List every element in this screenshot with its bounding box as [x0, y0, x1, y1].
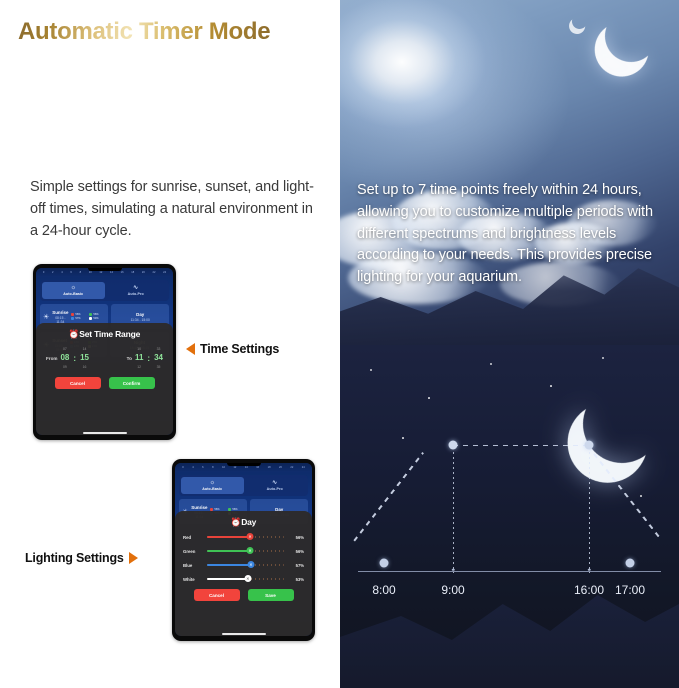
ruler-tick: 0 — [182, 466, 183, 469]
ruler-tick: 20 — [279, 466, 282, 469]
tab-auto-pro[interactable]: ∿ Auto-Pro — [244, 477, 307, 494]
axis-tick-16 — [588, 568, 591, 571]
from-group: From 07 08 09 : 14 15 — [46, 345, 89, 371]
ruler-tick: 2 — [52, 271, 53, 274]
ruler-tick: 24 — [163, 271, 166, 274]
axis-label: 8:00 — [372, 583, 395, 597]
clock-icon: ⏰ — [231, 517, 241, 527]
wheel-current: 11 — [135, 353, 143, 363]
cancel-button[interactable]: Cancel — [55, 377, 101, 389]
to-hour-column[interactable]: 10 11 12 — [135, 345, 143, 371]
notch — [227, 463, 261, 466]
wheel-prev: 10 — [137, 345, 141, 353]
channel-chip: 57% — [71, 317, 87, 320]
dialog-title: ⏰Set Time Range — [42, 329, 167, 340]
slider-fill — [207, 536, 250, 538]
mode-tabs: ☼ Auto-Basic ∿ Auto-Pro — [179, 475, 308, 496]
curve-node-16 — [585, 441, 594, 450]
to-minute-column[interactable]: 33 34 35 — [154, 345, 163, 371]
left-description: Simple settings for sunrise, sunset, and… — [30, 176, 315, 242]
channel-value: 53% — [93, 317, 98, 320]
axis-tick-9 — [452, 568, 455, 571]
curve-sunrise-segment — [353, 452, 423, 541]
to-group: To 10 11 12 : 33 34 — [127, 345, 163, 371]
ruler-tick: 20 — [142, 271, 145, 274]
page-title: Automatic Timer Mode — [18, 18, 270, 46]
wheel-current: 08 — [60, 353, 69, 363]
ruler-tick: 22 — [290, 466, 293, 469]
tab-label: Auto-Pro — [128, 292, 144, 296]
slider-value: 53% — [288, 577, 304, 582]
ruler-tick: 16 — [256, 466, 259, 469]
star — [490, 363, 492, 365]
right-panel: Set up to 7 time points freely within 24… — [340, 0, 679, 688]
slider-label: Red — [183, 535, 203, 540]
ruler-tick: 22 — [153, 271, 156, 274]
star — [602, 357, 604, 359]
ruler-tick: 8 — [80, 271, 81, 274]
right-description: Set up to 7 time points freely within 24… — [357, 180, 669, 289]
green-slider[interactable]: ✕ — [207, 547, 284, 555]
wave-icon: ∿ — [133, 285, 138, 292]
axis-point-17 — [626, 559, 635, 568]
slider-row-green: Green ✕ 56% — [181, 547, 306, 555]
vguide-9 — [453, 447, 454, 573]
from-hour-column[interactable]: 07 08 09 — [60, 345, 69, 371]
dialog-title: ⏰Day — [181, 517, 306, 528]
phone-screen-light: 0 4 6 8 10 12 14 16 18 20 22 24 ☼ Au — [175, 463, 312, 636]
sunrise-icon: ☀ — [43, 313, 49, 321]
slider-label: Green — [183, 549, 203, 554]
vguide-16 — [589, 447, 590, 573]
tab-auto-basic[interactable]: ☼ Auto-Basic — [181, 477, 244, 494]
ruler-tick: 12 — [233, 466, 236, 469]
clock-icon: ⏰ — [69, 329, 79, 339]
slider-label: White — [183, 577, 203, 582]
channel-chip: 56% — [89, 313, 105, 316]
slider-label: Blue — [183, 563, 203, 568]
ruler-tick: 14 — [110, 271, 113, 274]
moon-icon — [598, 3, 664, 69]
swatch-white — [89, 317, 92, 320]
arrow-right-icon — [129, 552, 138, 564]
colon: : — [147, 354, 150, 363]
slider-fill — [207, 550, 250, 552]
home-indicator — [83, 432, 127, 434]
wheel-prev: 33 — [157, 345, 161, 353]
callout-time-settings: Time Settings — [186, 342, 279, 356]
slider-fill — [207, 578, 248, 580]
curve-node-9 — [449, 441, 458, 450]
left-panel: Automatic Timer Mode Simple settings for… — [0, 0, 340, 688]
wheel-prev: 14 — [83, 345, 87, 353]
star — [428, 397, 430, 399]
axis-label: 16:00 — [574, 583, 604, 597]
dialog-title-text: Day — [241, 517, 256, 527]
wheel-current: 34 — [154, 353, 163, 363]
curve-daytime-segment — [453, 445, 589, 446]
mode-time: 11:34 - 15:00 — [114, 318, 166, 322]
tab-label: Auto-Pro — [267, 487, 283, 491]
channel-value: 56% — [93, 313, 98, 316]
mode-name: Day — [114, 312, 166, 317]
night-scene: Sunrise Daytime — [340, 345, 679, 688]
slider-value: 56% — [288, 535, 304, 540]
ruler-tick: 4 — [61, 271, 62, 274]
ruler-tick: 0 — [43, 271, 44, 274]
mode-name: Sunrise — [191, 505, 207, 510]
star — [402, 437, 404, 439]
timeline-axis — [358, 571, 661, 572]
callout-label: Time Settings — [200, 342, 279, 356]
phone-mockup-time-settings: 0 2 4 6 8 10 12 14 16 18 20 22 24 ☼ — [33, 264, 176, 440]
phone-screen-time: 0 2 4 6 8 10 12 14 16 18 20 22 24 ☼ — [36, 268, 173, 435]
from-wheel[interactable]: 07 08 09 : 14 15 16 — [60, 345, 88, 371]
axis-point-8 — [380, 559, 389, 568]
ruler-tick: 8 — [212, 466, 213, 469]
slider-knob[interactable]: ✕ — [247, 561, 254, 568]
axis-label: 9:00 — [441, 583, 464, 597]
ruler-tick: 10 — [89, 271, 92, 274]
swatch-blue — [71, 317, 74, 320]
channel-value: 57% — [75, 317, 80, 320]
notch — [88, 268, 122, 271]
axis-label: 17:00 — [615, 583, 645, 597]
from-minute-column[interactable]: 14 15 16 — [80, 345, 89, 371]
tab-label: Auto-Basic — [63, 292, 83, 296]
wheel-next: 09 — [63, 363, 67, 371]
star — [640, 495, 642, 497]
slider-row-blue: Blue ✕ 57% — [181, 561, 306, 569]
slider-row-red: Red ✕ 56% — [181, 533, 306, 541]
tab-auto-basic[interactable]: ☼ Auto-Basic — [42, 282, 105, 299]
slider-knob[interactable]: ✕ — [247, 533, 254, 540]
dialog-title-text: Set Time Range — [79, 329, 140, 339]
confirm-button[interactable]: Confirm — [109, 377, 155, 389]
wheel-next: 35 — [157, 363, 161, 371]
star — [550, 385, 552, 387]
swatch-red — [71, 313, 74, 316]
callout-lighting-settings: Lighting Settings — [25, 551, 138, 565]
ruler-tick: 16 — [121, 271, 124, 274]
to-wheel[interactable]: 10 11 12 : 33 34 35 — [135, 345, 163, 371]
moon-icon — [570, 12, 590, 32]
wheel-next: 16 — [83, 363, 87, 371]
home-indicator — [222, 633, 266, 635]
time-range-picker: From 07 08 09 : 14 15 — [42, 345, 167, 371]
to-label: To — [127, 356, 132, 361]
swatch-green — [89, 313, 92, 316]
wheel-next: 12 — [137, 363, 141, 371]
ruler-tick: 18 — [131, 271, 134, 274]
slider-knob[interactable]: ✕ — [247, 547, 254, 554]
from-label: From — [46, 356, 57, 361]
red-slider[interactable]: ✕ — [207, 533, 284, 541]
arrow-left-icon — [186, 343, 195, 355]
wheel-current: 15 — [80, 353, 89, 363]
mode-name: Sunrise — [52, 310, 68, 315]
sky-photo — [340, 0, 679, 345]
ruler-tick: 14 — [245, 466, 248, 469]
tab-auto-pro[interactable]: ∿ Auto-Pro — [105, 282, 168, 299]
ruler-tick: 12 — [99, 271, 102, 274]
tab-label: Auto-Basic — [202, 487, 222, 491]
wheel-prev: 07 — [63, 345, 67, 353]
wave-icon: ∿ — [272, 480, 277, 487]
ruler-tick: 6 — [70, 271, 71, 274]
set-time-range-dialog: ⏰Set Time Range From 07 08 09 : — [36, 323, 173, 435]
dialog-buttons: Cancel Save — [181, 589, 306, 601]
day-lighting-dialog: ⏰Day Red ✕ 56% Green — [175, 511, 312, 636]
sun-icon: ☼ — [70, 285, 76, 292]
save-button[interactable]: Save — [248, 589, 294, 601]
channel-chip: 53% — [89, 317, 105, 320]
slider-value: 56% — [288, 549, 304, 554]
promo-page: Automatic Timer Mode Simple settings for… — [0, 0, 679, 688]
slider-fill — [207, 564, 251, 566]
mode-tabs: ☼ Auto-Basic ∿ Auto-Pro — [40, 280, 169, 301]
channel-chips: 56% 56% 57% 53% — [71, 313, 105, 320]
ruler-tick: 10 — [222, 466, 225, 469]
dialog-buttons: Cancel Confirm — [42, 377, 167, 389]
slider-value: 57% — [288, 563, 304, 568]
channel-chip: 56% — [71, 313, 87, 316]
phone-mockup-lighting-settings: 0 4 6 8 10 12 14 16 18 20 22 24 ☼ Au — [172, 459, 315, 641]
slider-knob[interactable]: ✕ — [244, 575, 251, 582]
star — [370, 369, 372, 371]
colon: : — [73, 354, 76, 363]
sun-icon: ☼ — [209, 480, 215, 487]
callout-label: Lighting Settings — [25, 551, 124, 565]
slider-row-white: White ✕ 53% — [181, 575, 306, 583]
blue-slider[interactable]: ✕ — [207, 561, 284, 569]
cancel-button[interactable]: Cancel — [194, 589, 240, 601]
ruler-tick: 18 — [268, 466, 271, 469]
white-slider[interactable]: ✕ — [207, 575, 284, 583]
channel-value: 56% — [75, 313, 80, 316]
ruler-tick: 4 — [192, 466, 193, 469]
ruler-tick: 24 — [302, 466, 305, 469]
ruler-tick: 6 — [202, 466, 203, 469]
